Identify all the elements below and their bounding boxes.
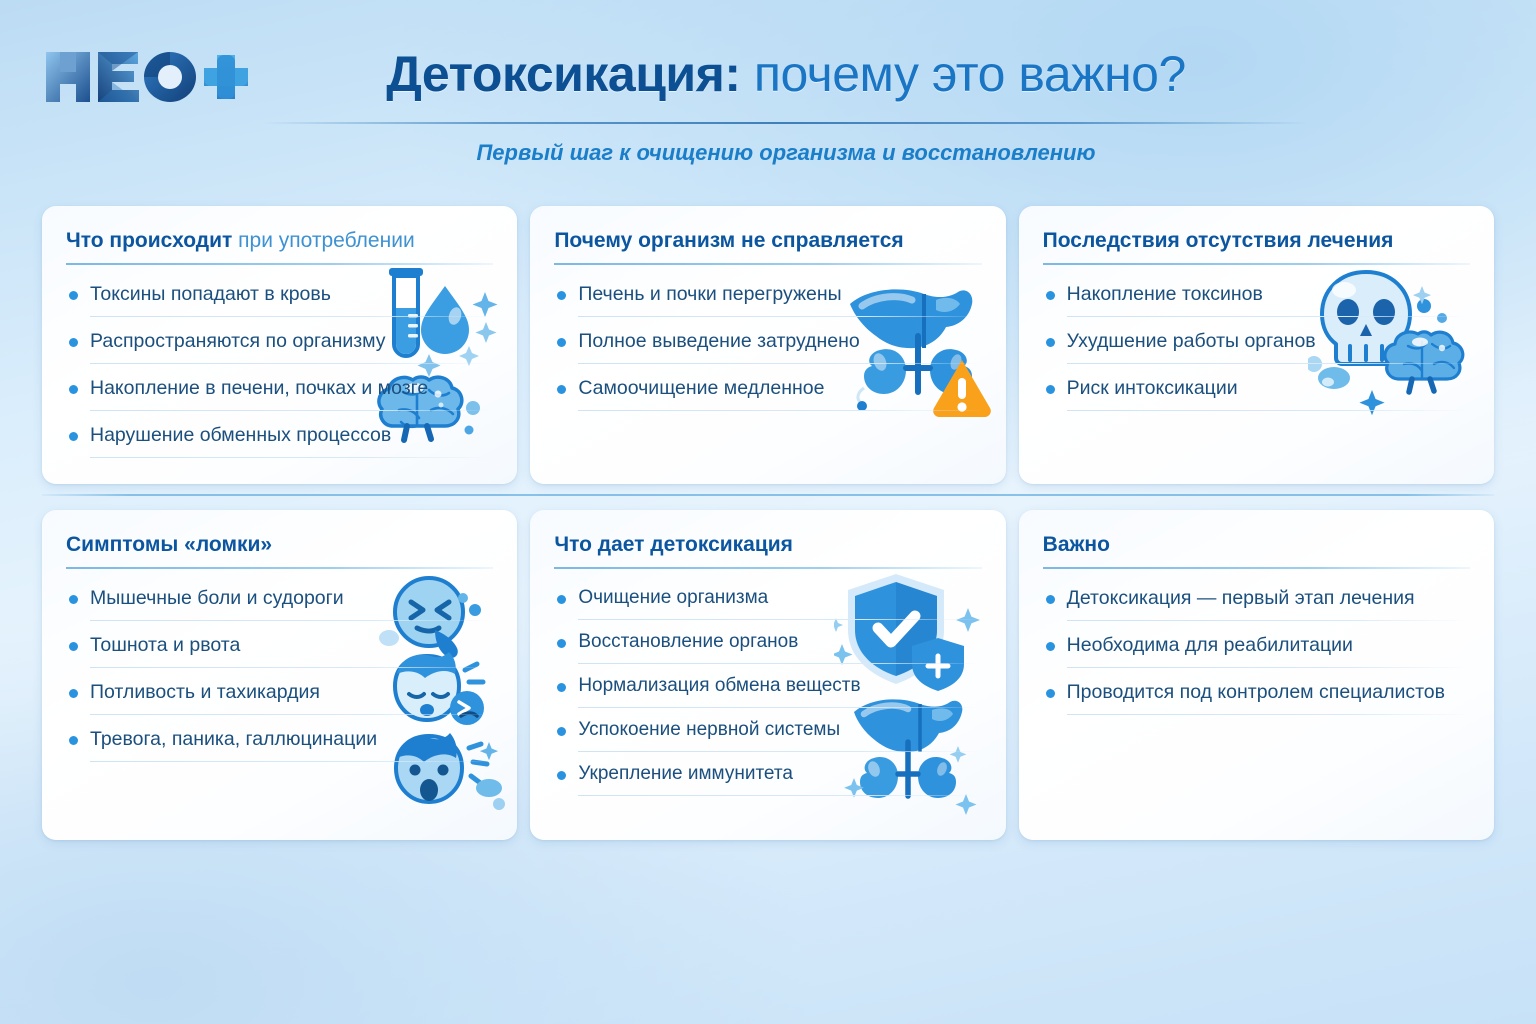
card-title: Важно (1043, 532, 1470, 558)
list-item-rule (1067, 410, 1470, 411)
card-title: Симптомы «ломки» (66, 532, 493, 558)
card-title-bold: Почему организм не справляется (554, 229, 903, 252)
card-title-rule (554, 263, 981, 265)
list-item[interactable]: Ухудшение работы органов (1043, 328, 1470, 364)
list-item-rule (578, 410, 981, 411)
list-item-label: Восстановление органов (578, 629, 798, 658)
list-item-label: Нормализация обмена веществ (578, 673, 860, 702)
list-item[interactable]: Самоочищение медленное (554, 375, 981, 411)
bullet-dot (557, 727, 566, 736)
card-list: Очищение организма Восстановление органо… (554, 585, 981, 796)
card-title-light: при употреблении (232, 229, 414, 252)
cards-row-top: Что происходит при употреблении (42, 206, 1494, 484)
list-item-label: Мышечные боли и судороги (90, 585, 344, 615)
list-item[interactable]: Нарушение обменных процессов (66, 422, 493, 458)
list-item-label: Накопление токсинов (1067, 281, 1263, 311)
list-item-rule (578, 707, 981, 708)
bullet-dot (1046, 642, 1055, 651)
card-title-bold: Последствия отсутствия лечения (1043, 229, 1394, 252)
list-item-rule (1067, 714, 1470, 715)
bullet-dot (1046, 595, 1055, 604)
card-title-rule (1043, 567, 1470, 569)
card-consequences[interactable]: Последствия отсутствия лечения (1019, 206, 1494, 484)
bullet-dot (69, 689, 78, 698)
card-title-rule (66, 263, 493, 265)
list-item[interactable]: Накопление токсинов (1043, 281, 1470, 317)
list-item-label: Необходима для реабилитации (1067, 632, 1353, 662)
list-item[interactable]: Риск интоксикации (1043, 375, 1470, 411)
list-item-rule (90, 714, 493, 715)
list-item[interactable]: Нормализация обмена веществ (554, 673, 981, 708)
list-item-label: Успокоение нервной системы (578, 717, 840, 746)
bullet-dot (557, 639, 566, 648)
card-list: Накопление токсинов Ухудшение работы орг… (1043, 281, 1470, 411)
bullet-dot (557, 385, 566, 394)
page-title: Детоксикация: почему это важно? (256, 42, 1316, 106)
bullet-dot (1046, 385, 1055, 394)
cards-row-bottom: Симптомы «ломки» (42, 510, 1494, 840)
page-subtitle: Первый шаг к очищению организма и восста… (256, 140, 1316, 166)
card-important[interactable]: Важно Детоксикация — первый этап лечения… (1019, 510, 1494, 840)
page-title-primary: Детоксикация: (386, 46, 740, 102)
bullet-dot (557, 771, 566, 780)
list-item-rule (1067, 620, 1470, 621)
card-what-happens[interactable]: Что происходит при употреблении (42, 206, 517, 484)
list-item[interactable]: Тревога, паника, галлюцинации (66, 726, 493, 762)
card-title-rule (1043, 263, 1470, 265)
list-item-rule (90, 667, 493, 668)
card-title-bold: Важно (1043, 533, 1110, 556)
card-title: Последствия отсутствия лечения (1043, 228, 1470, 254)
list-item-rule (90, 761, 493, 762)
bullet-dot (557, 595, 566, 604)
bullet-dot (557, 291, 566, 300)
list-item[interactable]: Восстановление органов (554, 629, 981, 664)
list-item[interactable]: Полное выведение затруднено (554, 328, 981, 364)
card-list: Печень и почки перегружены Полное выведе… (554, 281, 981, 411)
list-item-label: Детоксикация — первый этап лечения (1067, 585, 1415, 615)
header-divider (262, 122, 1308, 124)
list-item-label: Нарушение обменных процессов (90, 422, 391, 452)
card-detox-benefits[interactable]: Что дает детоксикация (530, 510, 1005, 840)
list-item-label: Полное выведение затруднено (578, 328, 859, 358)
list-item-label: Очищение организма (578, 585, 768, 614)
list-item-rule (90, 457, 493, 458)
bullet-dot (69, 291, 78, 300)
list-item-rule (578, 619, 981, 620)
list-item-rule (578, 795, 981, 796)
bullet-dot (69, 642, 78, 651)
list-item[interactable]: Успокоение нервной системы (554, 717, 981, 752)
list-item[interactable]: Необходима для реабилитации (1043, 632, 1470, 668)
list-item[interactable]: Укрепление иммунитета (554, 761, 981, 796)
card-list: Мышечные боли и судороги Тошнота и рвота… (66, 585, 493, 762)
list-item-rule (1067, 316, 1470, 317)
list-item-rule (90, 410, 493, 411)
list-item-label: Потливость и тахикардия (90, 679, 320, 709)
list-item[interactable]: Печень и почки перегружены (554, 281, 981, 317)
card-title: Что дает детоксикация (554, 532, 981, 558)
list-item-rule (578, 751, 981, 752)
list-item-rule (90, 363, 493, 364)
bullet-dot (69, 595, 78, 604)
list-item[interactable]: Тошнота и рвота (66, 632, 493, 668)
bullet-dot (69, 432, 78, 441)
list-item-label: Распространяются по организму (90, 328, 386, 358)
list-item-rule (578, 316, 981, 317)
page-title-secondary: почему это важно? (741, 46, 1186, 102)
list-item-rule (1067, 363, 1470, 364)
bullet-dot (557, 338, 566, 347)
bullet-dot (69, 736, 78, 745)
card-title-bold: Что дает детоксикация (554, 533, 793, 556)
list-item[interactable]: Мышечные боли и судороги (66, 585, 493, 621)
list-item-rule (578, 663, 981, 664)
card-title-rule (66, 567, 493, 569)
list-item-rule (1067, 667, 1470, 668)
list-item[interactable]: Накопление в печени, почках и мозге (66, 375, 493, 411)
list-item-rule (90, 316, 493, 317)
list-item[interactable]: Распространяются по организму (66, 328, 493, 364)
list-item-label: Проводится под контролем специалистов (1067, 679, 1445, 709)
list-item-label: Укрепление иммунитета (578, 761, 793, 790)
neo-plus-logo (42, 44, 256, 110)
list-item-rule (578, 363, 981, 364)
card-title: Почему организм не справляется (554, 228, 981, 254)
list-item-label: Накопление в печени, почках и мозге (90, 375, 428, 405)
card-title: Что происходит при употреблении (66, 228, 493, 254)
infographic-page: Детоксикация: почему это важно? Первый ш… (0, 0, 1536, 1024)
list-item[interactable]: Токсины попадают в кровь (66, 281, 493, 317)
list-item-label: Тревога, паника, галлюцинации (90, 726, 377, 756)
cards-grid: Что происходит при употреблении (42, 206, 1494, 840)
list-item[interactable]: Детоксикация — первый этап лечения (1043, 585, 1470, 621)
bullet-dot (1046, 338, 1055, 347)
card-why-body-fails[interactable]: Почему организм не справляется (530, 206, 1005, 484)
list-item-label: Ухудшение работы органов (1067, 328, 1316, 358)
list-item-label: Самоочищение медленное (578, 375, 824, 405)
card-withdrawal-symptoms[interactable]: Симптомы «ломки» (42, 510, 517, 840)
bullet-dot (557, 683, 566, 692)
list-item[interactable]: Проводится под контролем специалистов (1043, 679, 1470, 715)
list-item-label: Риск интоксикации (1067, 375, 1238, 405)
card-title-bold: Что происходит (66, 229, 232, 252)
list-item[interactable]: Потливость и тахикардия (66, 679, 493, 715)
card-title-rule (554, 567, 981, 569)
list-item-label: Токсины попадают в кровь (90, 281, 331, 311)
list-item-label: Тошнота и рвота (90, 632, 240, 662)
bullet-dot (69, 385, 78, 394)
list-item-label: Печень и почки перегружены (578, 281, 841, 311)
card-list: Детоксикация — первый этап лечения Необх… (1043, 585, 1470, 715)
list-item[interactable]: Очищение организма (554, 585, 981, 620)
bullet-dot (69, 338, 78, 347)
bullet-dot (1046, 689, 1055, 698)
card-title-bold: Симптомы «ломки» (66, 533, 272, 556)
list-item-rule (90, 620, 493, 621)
bullet-dot (1046, 291, 1055, 300)
card-list: Токсины попадают в кровь Распространяютс… (66, 281, 493, 458)
header: Детоксикация: почему это важно? Первый ш… (0, 0, 1536, 190)
